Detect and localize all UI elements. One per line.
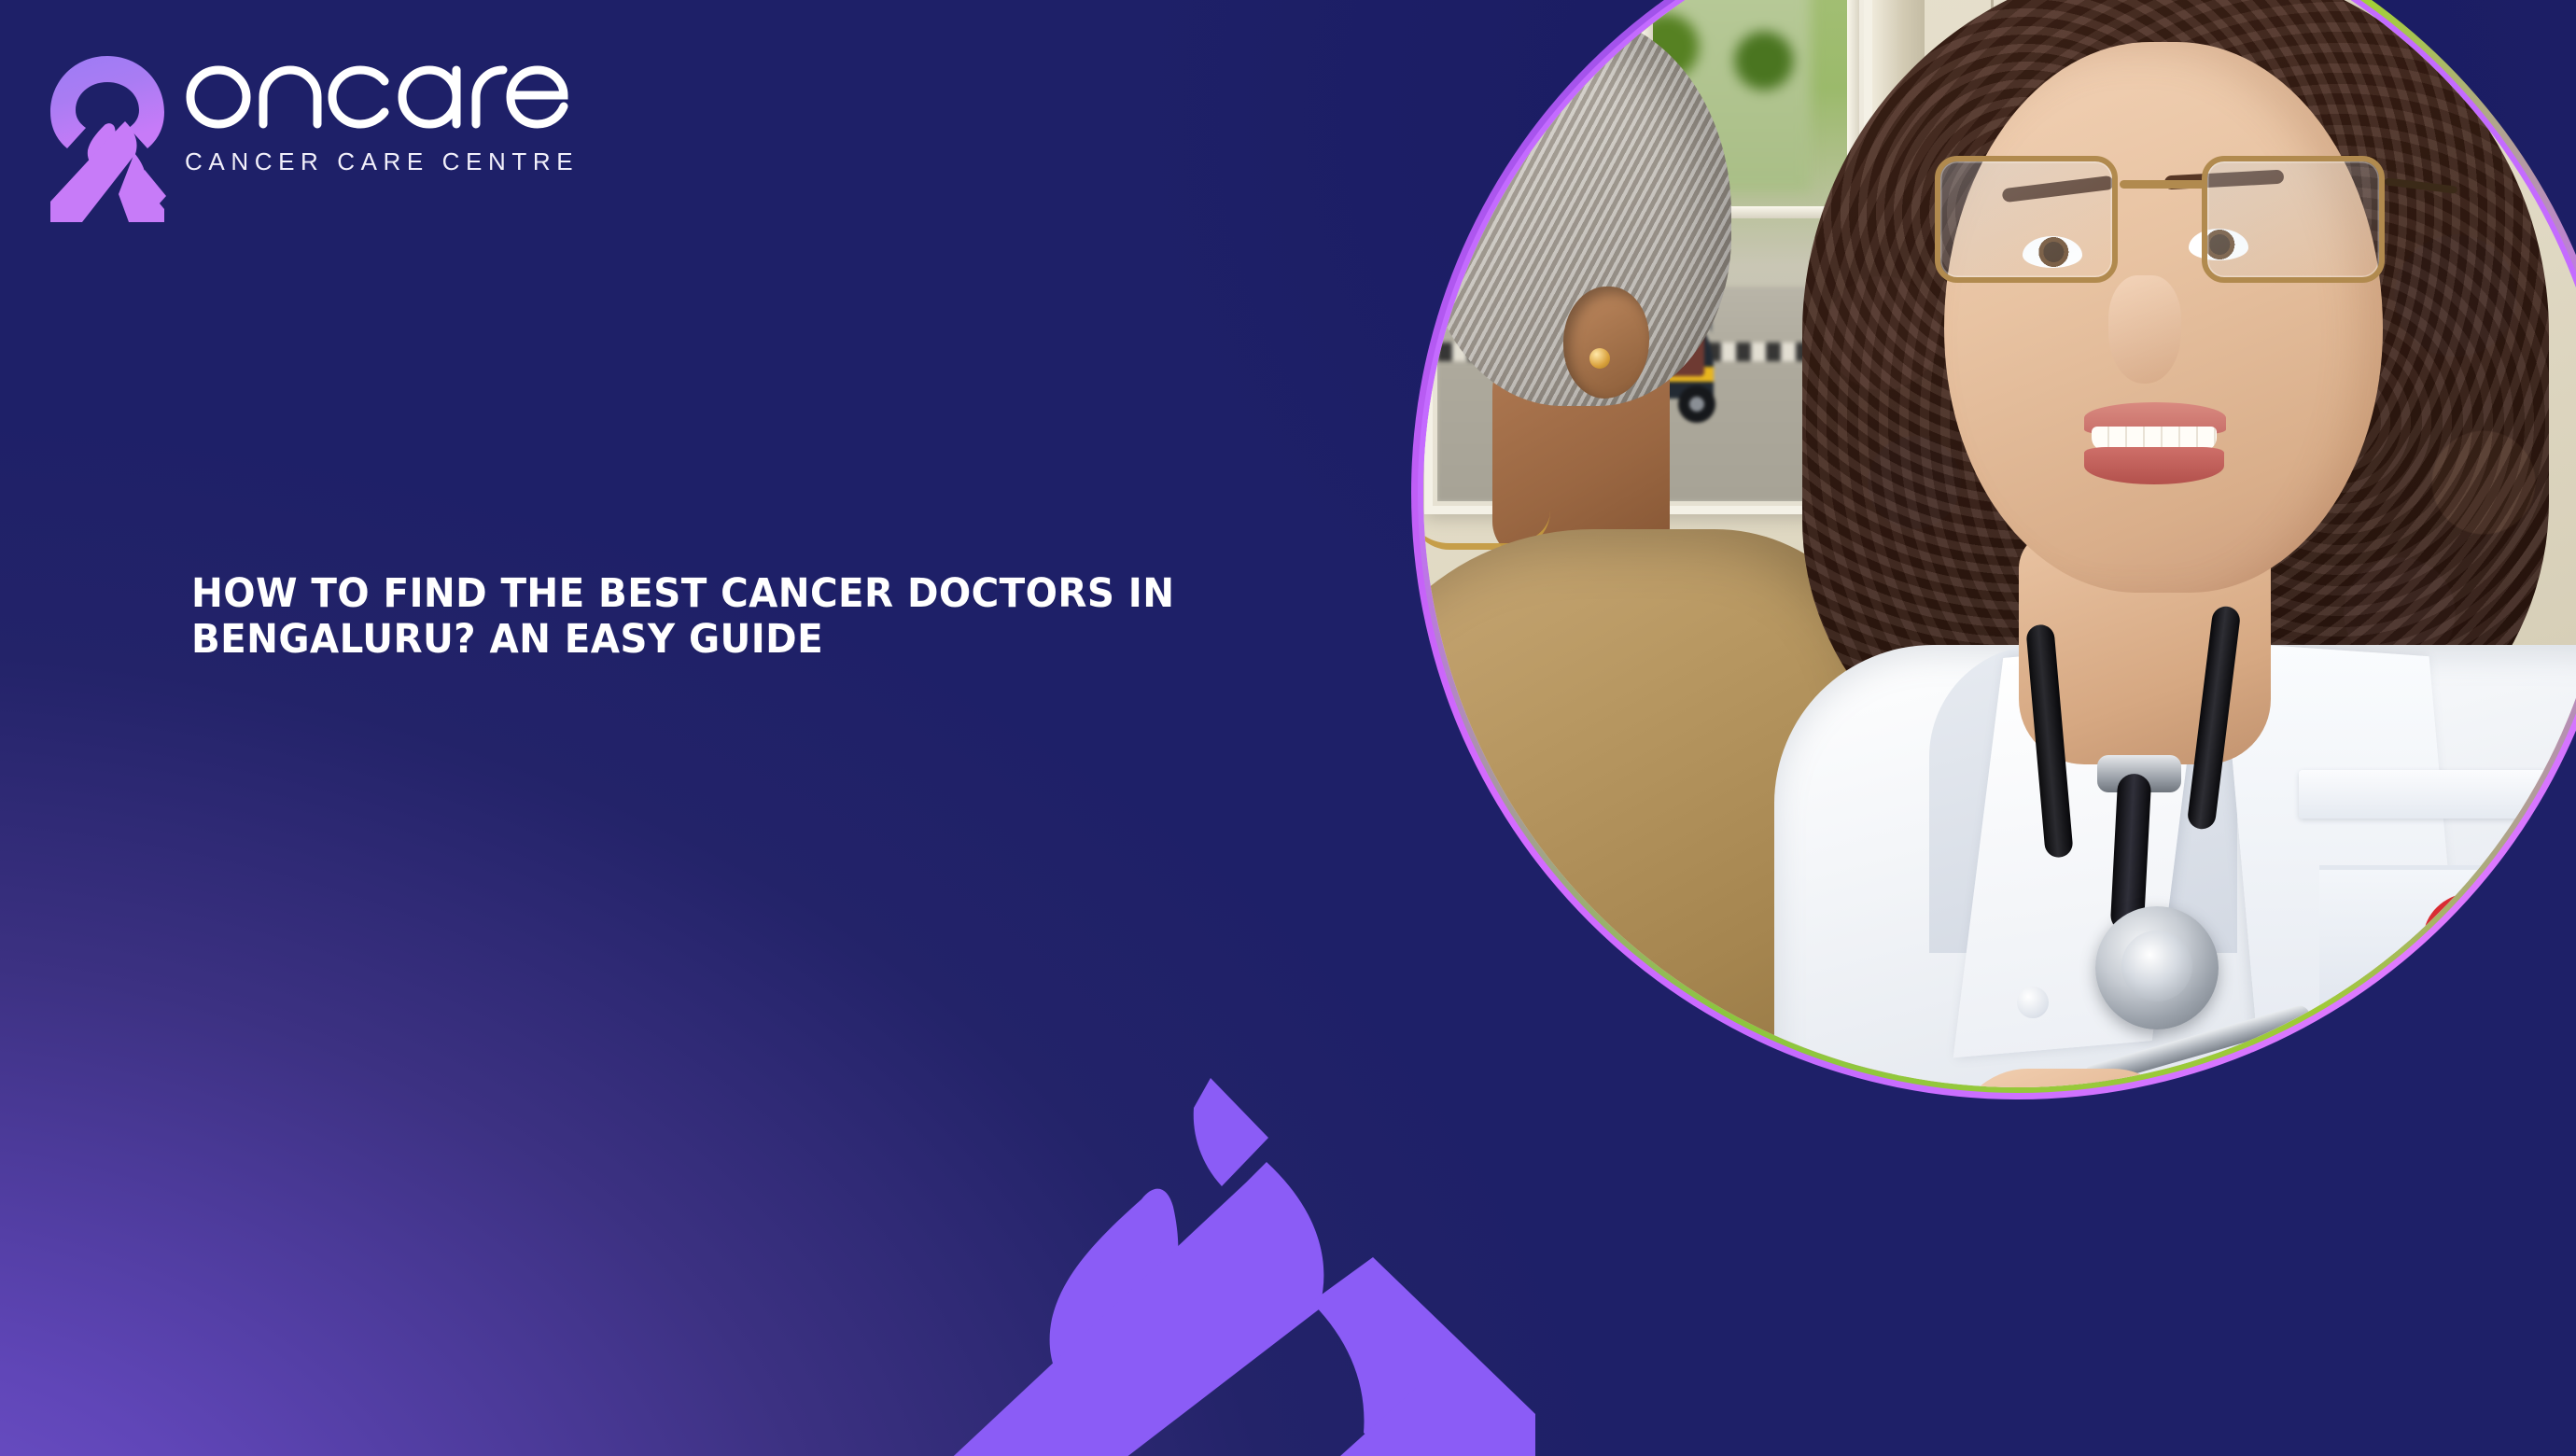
red-awareness-ribbon-icon — [2387, 886, 2573, 1087]
stethoscope-chestpiece — [2095, 906, 2219, 1029]
eyeglass-bridge — [2120, 180, 2205, 189]
doctor-patient-photo — [1423, 0, 2576, 1087]
eyeglass-lens-left — [1935, 156, 2118, 283]
brand-wordmark — [185, 50, 579, 125]
doctor-figure — [1722, 0, 2576, 1087]
page-title: HOW TO FIND THE BEST CANCER DOCTORS IN B… — [191, 571, 1192, 663]
doctor-lower-lip — [2084, 447, 2224, 484]
brand-tagline: CANCER CARE CENTRE — [185, 149, 579, 174]
awareness-ribbon-logo-icon — [49, 54, 166, 224]
doctor-face — [1944, 42, 2383, 593]
hero-photo-clip — [1423, 0, 2576, 1087]
coat-button — [2017, 987, 2049, 1018]
brand-logo[interactable]: CANCER CARE CENTRE — [49, 47, 579, 224]
eyeglass-lens-right — [2202, 156, 2385, 283]
hero-image-circle — [1411, 0, 2576, 1099]
gold-earring-icon — [1589, 348, 1610, 369]
slide-canvas: CANCER CARE CENTRE HOW TO FIND THE BEST … — [0, 0, 2576, 1456]
eyeglasses-icon — [1935, 139, 2396, 298]
coat-name-badge — [2299, 770, 2576, 819]
